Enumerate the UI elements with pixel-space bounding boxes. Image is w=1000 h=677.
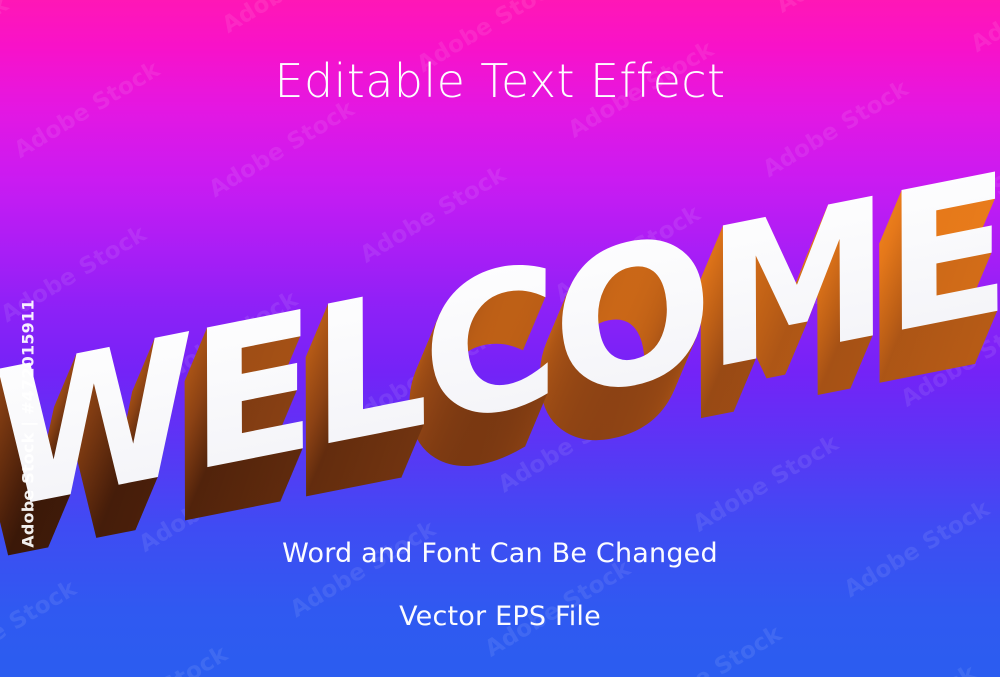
watermark-text: Adobe Stock (78, 641, 233, 677)
watermark-text: Adobe Stock (772, 0, 927, 19)
caption-line-1: Word and Font Can Be Changed (0, 540, 1000, 567)
stock-credit-label: Adobe Stock | #472015911 (19, 284, 38, 564)
poster-canvas: Adobe StockAdobe StockAdobe StockAdobe S… (0, 0, 1000, 677)
welcome-svg: WELCOMEWELCOMEWELCOMEWELCOMEWELCOMEWELCO… (0, 102, 1000, 591)
caption-block: Word and Font Can Be Changed Vector EPS … (0, 540, 1000, 630)
caption-line-2: Vector EPS File (0, 603, 1000, 630)
watermark-text: Adobe Stock (205, 96, 360, 203)
watermark-text: Adobe Stock (827, 660, 982, 677)
welcome-artwork: WELCOMEWELCOMEWELCOMEWELCOMEWELCOMEWELCO… (0, 102, 1000, 591)
watermark-text: Adobe Stock (218, 0, 373, 39)
watermark-text: Adobe Stock (967, 0, 1000, 58)
page-title: Editable Text Effect (0, 58, 1000, 104)
